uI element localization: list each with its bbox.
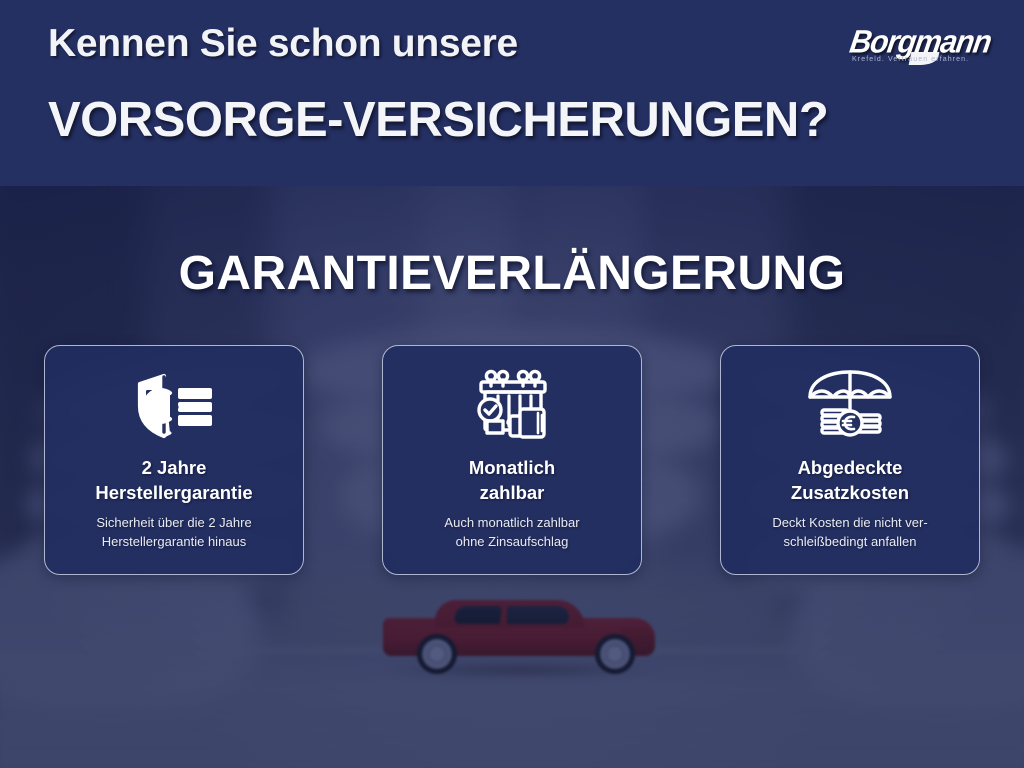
card-title-line-1: Monatlich [469,457,555,478]
feature-card-description: Auch monatlich zahlbar ohne Zinsaufschla… [434,514,589,551]
feature-card-list: 2 Jahre Herstellergarantie Sicherheit üb… [44,345,980,575]
page-title: GARANTIEVERLÄNGERUNG [0,246,1024,301]
feature-card-monthly-payment[interactable]: Monatlich zahlbar Auch monatlich zahlbar… [382,345,642,575]
card-desc-line-2: Herstellergarantie hinaus [102,534,247,549]
card-desc-line-1: Sicherheit über die 2 Jahre [96,515,251,530]
brand-tagline: Krefeld. Vertrauen erfahren. [852,56,969,63]
umbrella-euro-coins-icon [800,368,900,444]
header-eyebrow-text: Kennen Sie schon unsere [48,22,518,66]
calendar-cash-check-icon [462,368,562,444]
header-headline-text: VORSORGE-VERSICHERUNGEN? [48,92,828,148]
feature-card-title: 2 Jahre Herstellergarantie [95,456,252,505]
card-desc-line-2: schleißbedingt anfallen [784,534,917,549]
feature-card-description: Sicherheit über die 2 Jahre Herstellerga… [86,514,261,551]
card-title-line-2: Herstellergarantie [95,482,252,503]
promo-banner: Kennen Sie schon unsere VORSORGE-VERSICH… [0,0,1024,768]
feature-card-title: Abgedeckte Zusatzkosten [791,456,909,505]
card-title-line-2: Zusatzkosten [791,482,909,503]
brand-logo[interactable]: Borgmann Krefeld. Vertrauen erfahren. [850,26,996,72]
card-desc-line-1: Deckt Kosten die nicht ver- [772,515,927,530]
feature-card-extra-costs[interactable]: Abgedeckte Zusatzkosten Deckt Kosten die… [720,345,980,575]
feature-card-description: Deckt Kosten die nicht ver- schleißbedin… [762,514,937,551]
header-bar: Kennen Sie schon unsere VORSORGE-VERSICH… [0,0,1024,186]
feature-card-warranty[interactable]: 2 Jahre Herstellergarantie Sicherheit üb… [44,345,304,575]
card-title-line-2: zahlbar [480,482,545,503]
shield-plug-icon [124,368,224,444]
card-desc-line-1: Auch monatlich zahlbar [444,515,579,530]
card-desc-line-2: ohne Zinsaufschlag [456,534,569,549]
card-title-line-1: Abgedeckte [798,457,903,478]
feature-card-title: Monatlich zahlbar [469,456,555,505]
card-title-line-1: 2 Jahre [142,457,207,478]
